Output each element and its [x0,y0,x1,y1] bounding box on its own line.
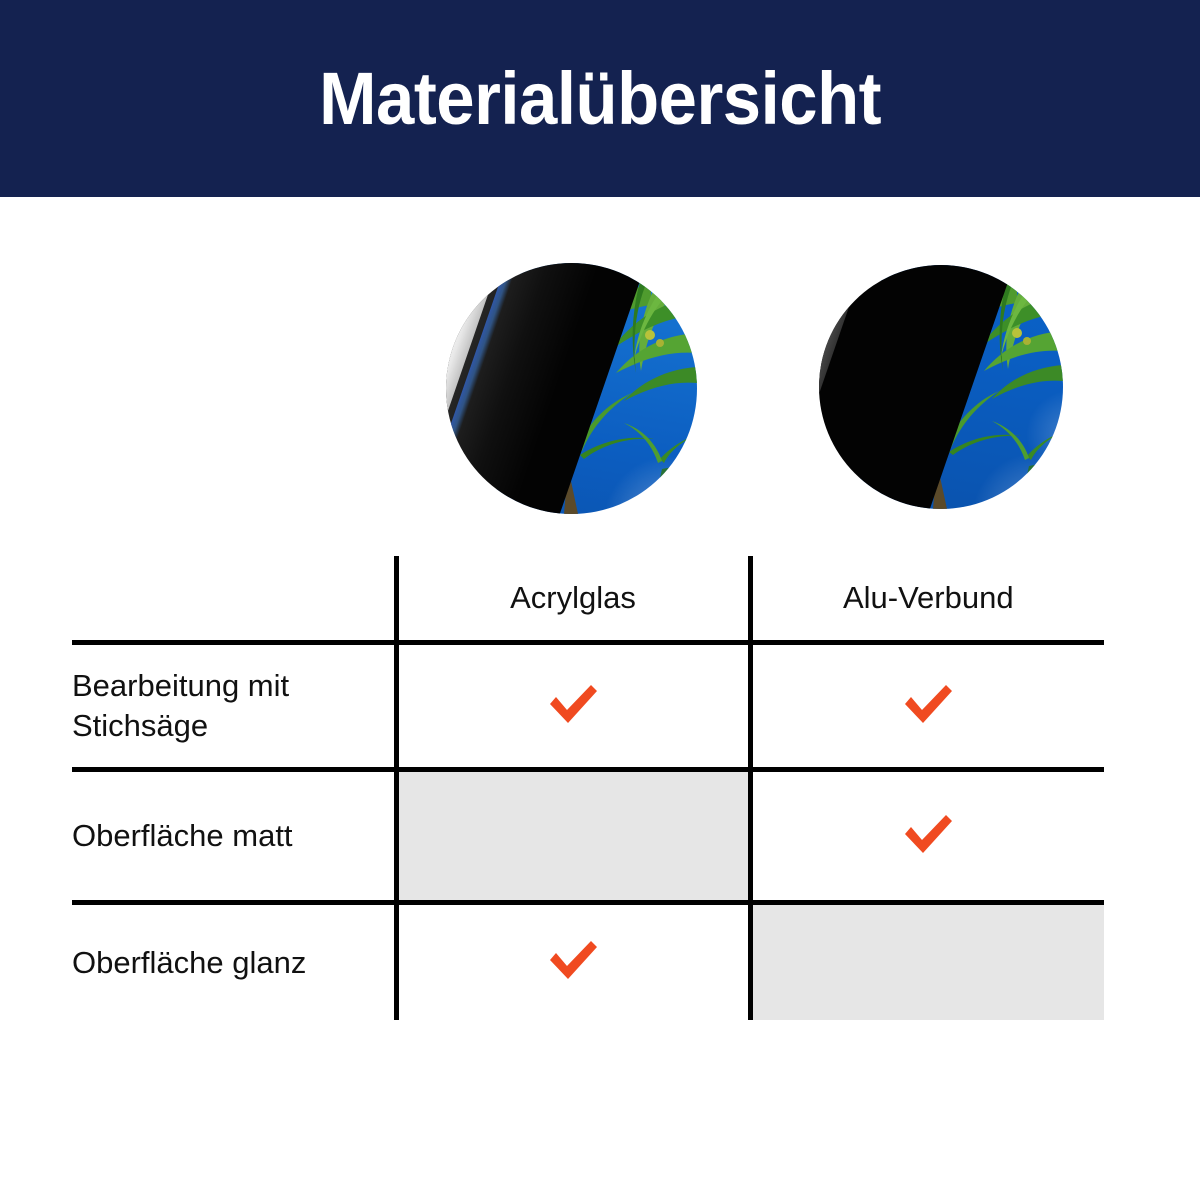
check-icon [545,682,601,726]
cell-bearbeitung-acrylglas [396,643,750,770]
table-row: Bearbeitung mit Stichsäge [72,643,1104,770]
table-header-row: Acrylglas Alu-Verbund [72,556,1104,643]
row-label-line: Stichsäge [72,706,394,746]
material-comparison-table: Acrylglas Alu-Verbund Bearbeitung mit St… [72,556,1104,1020]
table-row: Oberfläche glanz [72,903,1104,1021]
row-label-oberflaeche-matt: Oberfläche matt [72,770,396,903]
alu-verbund-scene [819,265,1063,509]
row-label-line: Bearbeitung mit [72,666,394,706]
check-icon [545,938,601,982]
column-header-alu-verbund: Alu-Verbund [750,556,1104,643]
cell-glanz-acrylglas [396,903,750,1021]
acrylglas-scene [446,263,697,514]
row-label-oberflaeche-glanz: Oberfläche glanz [72,903,396,1021]
acrylglas-preview-image[interactable] [446,263,697,514]
check-icon [900,682,956,726]
table-row: Oberfläche matt [72,770,1104,903]
cell-matt-alu-verbund [750,770,1104,903]
cell-glanz-alu-verbund-unavailable [750,903,1104,1021]
cell-bearbeitung-alu-verbund [750,643,1104,770]
column-header-acrylglas: Acrylglas [396,556,750,643]
row-label-bearbeitung-stichsaege: Bearbeitung mit Stichsäge [72,643,396,770]
column-header-alu-verbund-label: Alu-Verbund [843,580,1014,616]
page-header-banner: Materialübersicht [0,0,1200,197]
cell-matt-acrylglas-unavailable [396,770,750,903]
material-comparison-table-wrapper: Acrylglas Alu-Verbund Bearbeitung mit St… [72,556,1104,1008]
column-header-acrylglas-label: Acrylglas [510,580,636,616]
page-title: Materialübersicht [319,62,881,136]
check-icon [900,812,956,856]
table-corner-cell [72,556,396,643]
row-label-line: Oberfläche glanz [72,943,394,983]
alu-verbund-preview-image[interactable] [819,265,1063,509]
material-preview-row [0,263,1200,523]
row-label-line: Oberfläche matt [72,816,394,856]
